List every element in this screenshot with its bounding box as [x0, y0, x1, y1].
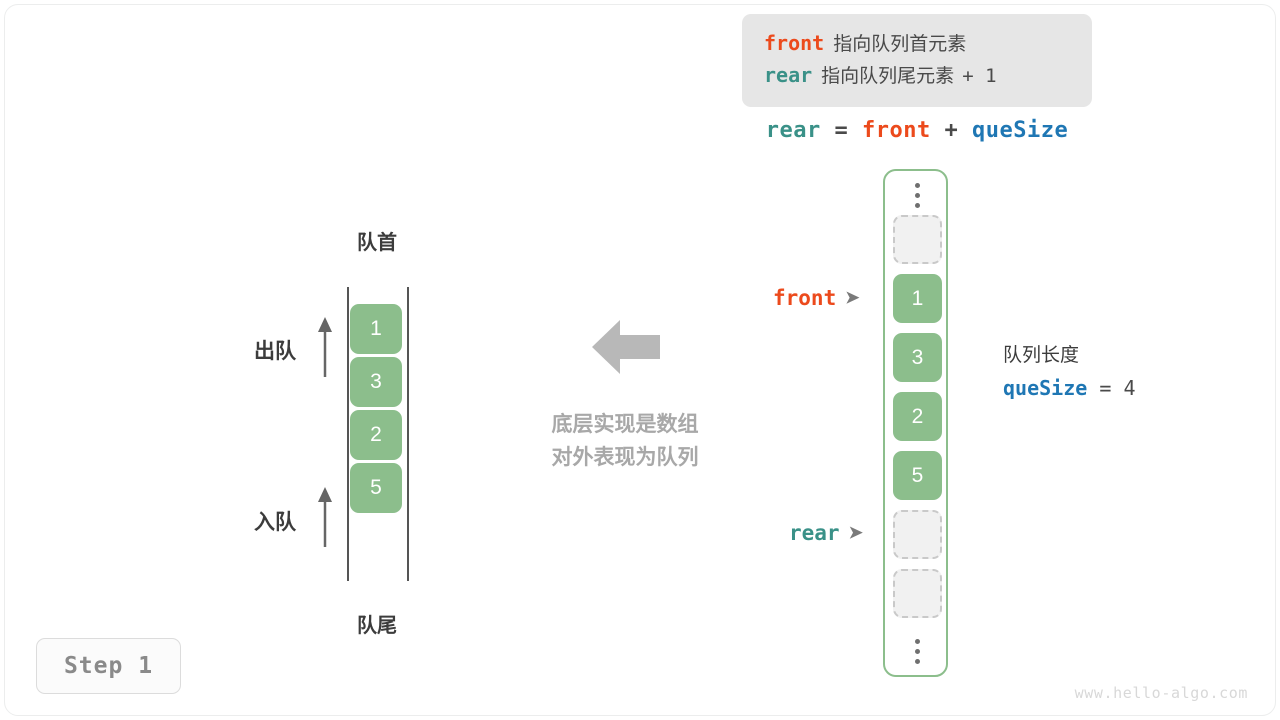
pointer-legend-box: front指向队列首元素 rear指向队列尾元素+ 1	[742, 14, 1092, 107]
formula-front: front	[862, 118, 931, 143]
queue-cell-0[interactable]: 1	[350, 304, 402, 354]
queue-head-label: 队首	[312, 226, 442, 255]
queue-size-title: 队列长度	[1003, 340, 1135, 372]
rear-keyword: rear	[764, 63, 812, 87]
watermark: www.hello-algo.com	[1075, 684, 1248, 702]
center-caption-line-2: 对外表现为队列	[500, 441, 750, 474]
left-arrow-icon	[592, 318, 660, 376]
queue-size-formula: queSize = 4	[1003, 372, 1135, 404]
queue-cell-2[interactable]: 2	[350, 410, 402, 460]
enqueue-up-arrow-icon	[317, 485, 333, 547]
array-cell-3[interactable]: 2	[893, 392, 942, 441]
array-cell-5[interactable]	[893, 510, 942, 559]
dequeue-label: 出队	[254, 335, 296, 365]
rear-pointer-text: rear	[789, 521, 840, 545]
ellipsis-bottom-icon	[885, 631, 950, 671]
array-cell-0[interactable]	[893, 215, 942, 264]
ellipsis-top-icon	[885, 175, 950, 215]
quesize-variable: queSize	[1003, 376, 1087, 400]
formula-plus: +	[945, 118, 959, 143]
formula-rear: rear	[766, 118, 821, 143]
front-pointer-label: front ➤	[773, 286, 859, 310]
array-cell-6[interactable]	[893, 569, 942, 618]
rear-description: 指向队列尾元素	[821, 66, 954, 87]
queue-cell-3[interactable]: 5	[350, 463, 402, 513]
array-cell-1[interactable]: 1	[893, 274, 942, 323]
rear-suffix: + 1	[962, 65, 996, 87]
queue-size-note: 队列长度 queSize = 4	[1003, 340, 1135, 404]
front-pointer-text: front	[773, 286, 836, 310]
center-caption-line-1: 底层实现是数组	[500, 408, 750, 441]
dequeue-up-arrow-icon	[317, 315, 333, 377]
array-cell-4[interactable]: 5	[893, 451, 942, 500]
rear-pointer-label: rear ➤	[789, 521, 863, 545]
front-keyword: front	[764, 31, 824, 55]
queue-rail-right	[407, 287, 409, 581]
array-container: 1 3 2 5	[883, 169, 948, 677]
array-cell-2[interactable]: 3	[893, 333, 942, 382]
queue-tail-label: 队尾	[312, 609, 442, 638]
legend-line-rear: rear指向队列尾元素+ 1	[764, 60, 1074, 92]
rear-formula: rear = front + queSize	[742, 118, 1092, 143]
center-caption: 底层实现是数组 对外表现为队列	[500, 408, 750, 474]
formula-equals: =	[835, 118, 849, 143]
quesize-equals: =	[1099, 376, 1111, 400]
queue-rail-left	[347, 287, 349, 581]
front-description: 指向队列首元素	[833, 34, 966, 55]
legend-line-front: front指向队列首元素	[764, 28, 1074, 60]
queue-cell-1[interactable]: 3	[350, 357, 402, 407]
front-pointer-arrow-icon: ➤	[845, 289, 859, 306]
rear-pointer-arrow-icon: ➤	[849, 524, 863, 541]
diagram-canvas: front指向队列首元素 rear指向队列尾元素+ 1 rear = front…	[0, 0, 1280, 720]
quesize-value: 4	[1123, 376, 1135, 400]
formula-quesize: queSize	[972, 118, 1068, 143]
enqueue-label: 入队	[254, 506, 296, 536]
step-badge: Step 1	[36, 638, 181, 694]
